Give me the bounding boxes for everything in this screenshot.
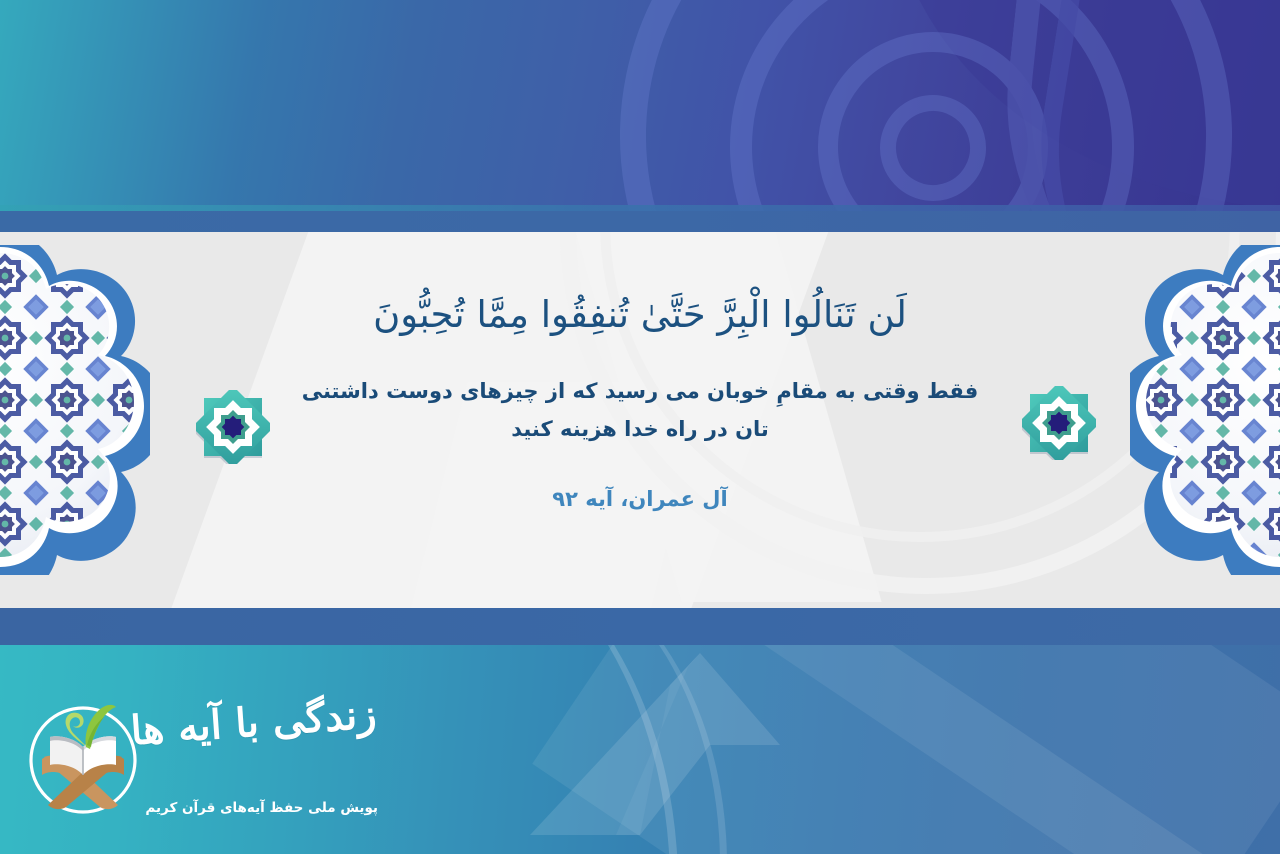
logo-wordmark: زندگی با آیه ها [155, 694, 380, 793]
ayah-persian-translation: فقط وقتی به مقامِ خوبان می رسید که از چی… [290, 372, 990, 450]
quran-verse-poster: لَن تَنَالُوا الْبِرَّ حَتَّىٰ تُنفِقُوا… [0, 0, 1280, 854]
geometric-arrow-shape [520, 645, 940, 854]
top-divider-bar [0, 211, 1280, 233]
ayah-arabic-text: لَن تَنَالُوا الْبِرَّ حَتَّىٰ تُنفِقُوا… [373, 288, 907, 342]
left-medallion-svg [0, 245, 150, 575]
top-gradient-band [0, 0, 1280, 232]
logo-tagline: پویش ملی حفظ آیه‌های قرآن کریم [152, 800, 378, 816]
bottom-divider-bar [0, 608, 1280, 645]
left-tile-medallion [0, 245, 150, 575]
open-quran-book-icon [24, 701, 142, 819]
campaign-logo-lockup: زندگی با آیه ها پویش ملی حفظ آیه‌های قرآ… [24, 690, 404, 830]
eight-point-star-icon [196, 390, 270, 464]
eight-point-star-icon [1022, 386, 1096, 460]
calligraphic-swirl-watermark [580, 0, 1280, 232]
right-medallion-svg [1130, 245, 1280, 575]
ayah-citation: آل عمران، آیه ۹۲ [552, 487, 727, 511]
right-tile-medallion [1130, 245, 1280, 575]
logo-wordmark-group: زندگی با آیه ها پویش ملی حفظ آیه‌های قرآ… [158, 700, 378, 820]
